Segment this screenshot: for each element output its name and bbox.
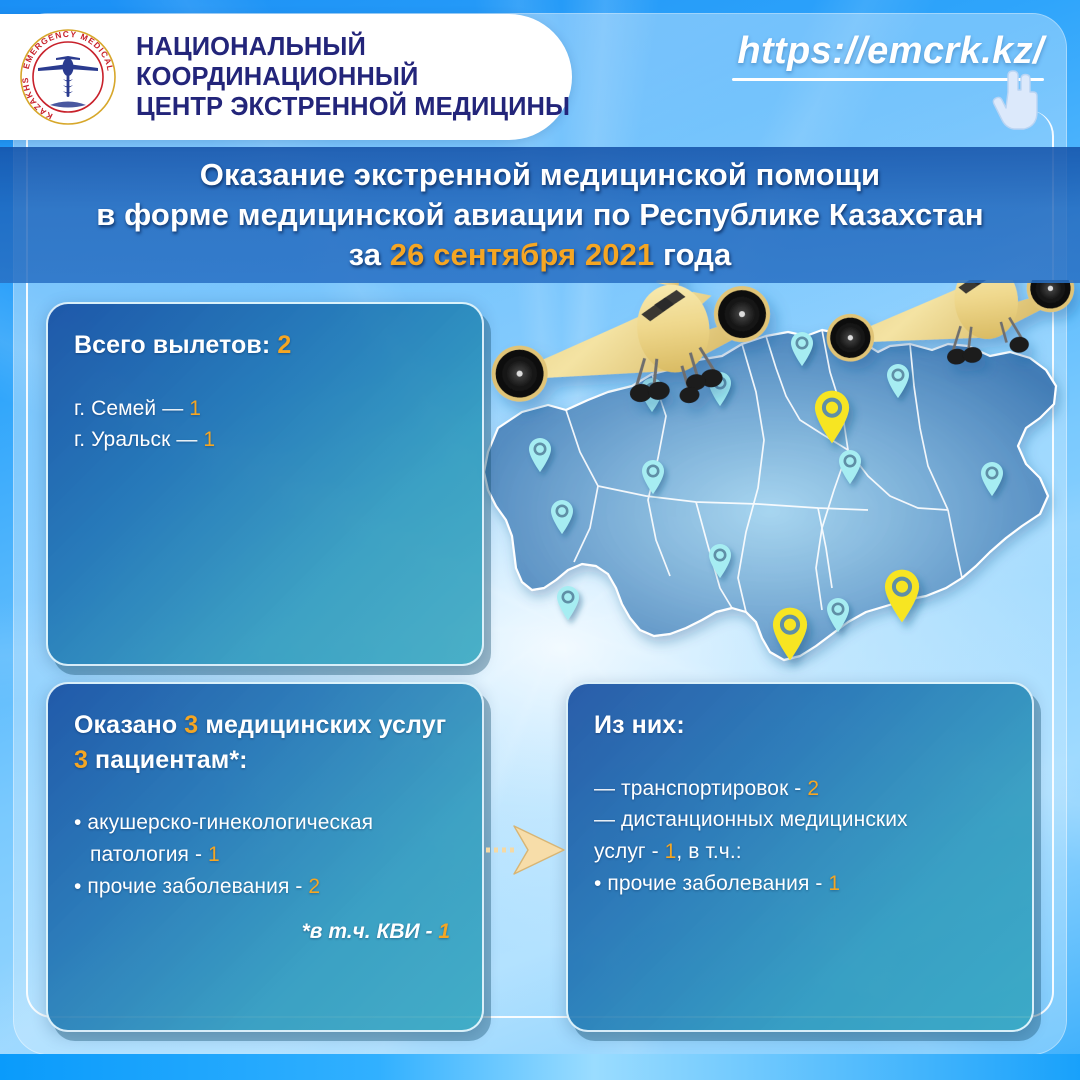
services-footnote: *в т.ч. КВИ - 1 [302, 920, 450, 944]
ofwhich-transport-row: — транспортировок - 2 [594, 773, 1006, 805]
patients-count-value: 3 [74, 746, 88, 774]
ofwhich-remote-row: — дистанционных медицинских [594, 804, 1006, 836]
ofwhich-remote-label: — дистанционных медицинских [594, 808, 908, 831]
flights-city-value: 1 [203, 428, 215, 451]
flow-arrow-icon [484, 818, 568, 880]
ofwhich-other-row: • прочие заболевания - 1 [594, 868, 1006, 900]
infographic-canvas: EMERGENCY MEDICAL CARE OF KAZAKHSTAN [0, 0, 1080, 1080]
flights-city-label: г. Уральск — [74, 428, 203, 451]
services-item-value: 1 [208, 843, 220, 866]
site-url-link[interactable]: https://emcrk.kz/ [737, 30, 1044, 73]
services-heading-line-2: 3 пациентам*: [74, 743, 456, 778]
services-item-label: • прочие заболевания - [74, 875, 308, 898]
airplane-left [480, 280, 779, 427]
airplane-right [818, 280, 1080, 378]
airplanes-svg [400, 280, 1080, 520]
ofwhich-remote-suffix: , в т.ч.: [676, 840, 741, 863]
flights-city-row: г. Уральск — 1 [74, 424, 456, 456]
bottom-accent-bar [0, 1054, 1080, 1080]
emcrk-logo: EMERGENCY MEDICAL CARE OF KAZAKHSTAN [16, 25, 120, 129]
ofwhich-transport-label: — транспортировок - [594, 777, 807, 800]
services-item-label: • акушерско-гинекологическая [74, 811, 373, 834]
airplanes-illustration [400, 280, 1080, 520]
organization-name: НАЦИОНАЛЬНЫЙ КООРДИНАЦИОННЫЙ ЦЕНТР ЭКСТР… [136, 32, 572, 122]
services-item-row: • прочие заболевания - 2 [74, 871, 456, 903]
flights-city-row: г. Семей — 1 [74, 393, 456, 425]
ofwhich-transport-value: 2 [807, 777, 819, 800]
title-line-1: Оказание экстренной медицинской помощи [200, 155, 880, 195]
services-heading-line-1: Оказано 3 медицинских услуг [74, 708, 456, 743]
footnote-value: 1 [438, 920, 450, 943]
flights-city-label: г. Семей — [74, 397, 189, 420]
title-line-3: за 26 сентября 2021 года [349, 235, 732, 275]
services-item-label-2: патология - [90, 843, 208, 866]
services-count-value: 3 [184, 711, 198, 739]
flights-heading-label: Всего вылетов: [74, 331, 277, 359]
card-medical-services: Оказано 3 медицинских услуг 3 пациентам*… [46, 682, 484, 1032]
services-item-row: • акушерско-гинекологическая [74, 807, 456, 839]
card-total-flights: Всего вылетов: 2 г. Семей — 1 г. Уральск… [46, 302, 484, 666]
title-date-prefix: за [349, 237, 390, 272]
title-date-value: 26 сентября 2021 [390, 237, 655, 272]
patients-label: пациентам*: [88, 746, 248, 774]
title-line-2: в форме медицинской авиации по Республик… [96, 195, 984, 235]
marker-mangystau-pin-icon [557, 586, 579, 620]
marker-almaty-pin-icon [885, 570, 919, 623]
ofwhich-remote-label-2: услуг - [594, 840, 665, 863]
services-item-value: 2 [308, 875, 320, 898]
header-brand-pill: EMERGENCY MEDICAL CARE OF KAZAKHSTAN [0, 14, 572, 140]
flights-heading-value: 2 [277, 331, 291, 359]
services-heading-prefix: Оказано [74, 711, 184, 739]
hand-cursor-icon [990, 70, 1042, 132]
flights-heading: Всего вылетов: 2 [74, 328, 456, 363]
emcrk-logo-svg: EMERGENCY MEDICAL CARE OF KAZAKHSTAN [16, 25, 120, 129]
ofwhich-other-value: 1 [828, 872, 840, 895]
title-banner: Оказание экстренной медицинской помощи в… [0, 147, 1080, 283]
card-of-which: Из них: — транспортировок - 2 — дистанци… [566, 682, 1034, 1032]
footnote-label: *в т.ч. КВИ - [302, 920, 439, 943]
ofwhich-remote-row-cont: услуг - 1, в т.ч.: [594, 836, 1006, 868]
flights-city-value: 1 [189, 397, 201, 420]
ofwhich-other-label: • прочие заболевания - [594, 872, 828, 895]
title-date-suffix: года [654, 237, 731, 272]
ofwhich-heading: Из них: [594, 708, 1006, 743]
services-heading-suffix: медицинских услуг [198, 711, 446, 739]
services-item-row-cont: патология - 1 [74, 839, 456, 871]
ofwhich-remote-value: 1 [665, 840, 677, 863]
engine-left-outer [488, 342, 550, 404]
